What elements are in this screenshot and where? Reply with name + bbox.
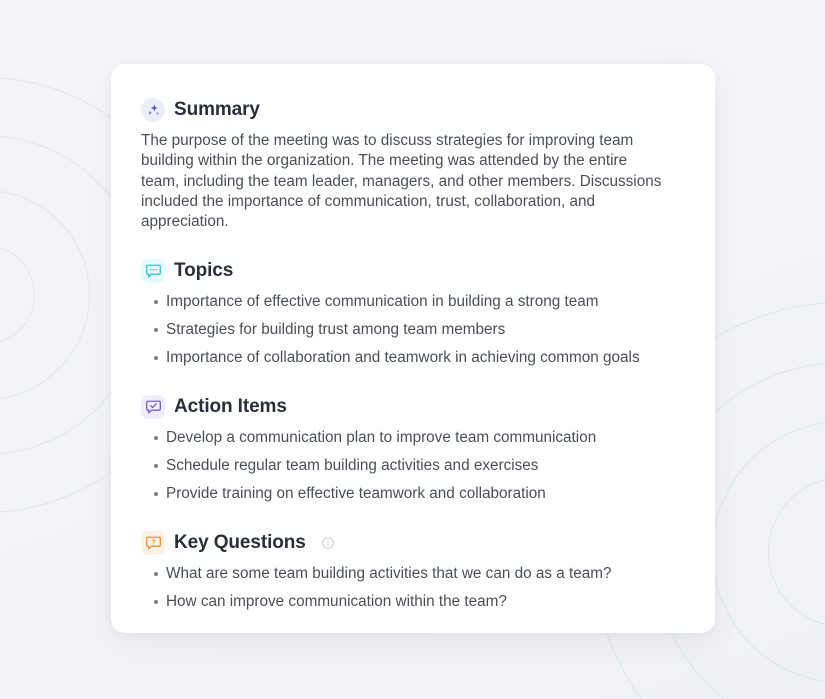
decorative-ring — [768, 477, 825, 627]
section-title-topics: Topics — [174, 260, 233, 282]
section-summary: Summary The purpose of the meeting was t… — [141, 98, 685, 233]
key-questions-list: What are some team building activities t… — [141, 564, 685, 613]
chat-bubble-check-icon — [141, 395, 165, 419]
list-item: Strategies for building trust among team… — [141, 320, 666, 340]
sparkle-icon — [141, 98, 165, 122]
list-item: Provide training on effective teamwork a… — [141, 484, 666, 504]
list-item: How can improve communication within the… — [141, 592, 666, 612]
action-items-list: Develop a communication plan to improve … — [141, 428, 685, 505]
list-item: What are some team building activities t… — [141, 564, 666, 584]
section-title-action-items: Action Items — [174, 396, 287, 418]
section-key-questions: ? Key Questions What are some team build… — [141, 531, 685, 613]
svg-text:?: ? — [151, 539, 155, 547]
list-item: Importance of collaboration and teamwork… — [141, 348, 666, 368]
section-header-topics: Topics — [141, 259, 685, 283]
list-item: Importance of effective communication in… — [141, 292, 666, 312]
section-header-action-items: Action Items — [141, 395, 685, 419]
list-item: Develop a communication plan to improve … — [141, 428, 666, 448]
decorative-ring — [0, 190, 90, 400]
topics-list: Importance of effective communication in… — [141, 292, 685, 369]
chat-bubble-question-icon: ? — [141, 531, 165, 555]
info-icon[interactable] — [321, 536, 335, 550]
summary-paragraph: The purpose of the meeting was to discus… — [141, 131, 666, 233]
section-action-items: Action Items Develop a communication pla… — [141, 395, 685, 505]
chat-bubble-dots-icon — [141, 259, 165, 283]
meeting-notes-card: Summary The purpose of the meeting was t… — [111, 64, 715, 633]
decorative-ring — [0, 245, 35, 345]
list-item: Schedule regular team building activitie… — [141, 456, 666, 476]
section-header-summary: Summary — [141, 98, 685, 122]
section-title-summary: Summary — [174, 99, 260, 121]
section-topics: Topics Importance of effective communica… — [141, 259, 685, 369]
section-header-key-questions: ? Key Questions — [141, 531, 685, 555]
section-title-key-questions: Key Questions — [174, 532, 306, 554]
decorative-ring — [712, 421, 825, 683]
